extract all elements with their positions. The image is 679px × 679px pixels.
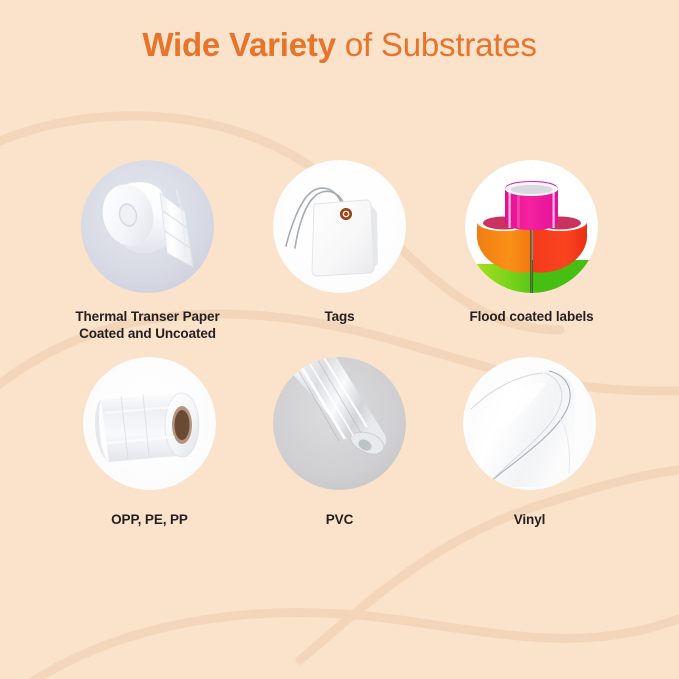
substrate-row-2: OPP, PE, PP bbox=[0, 351, 679, 529]
substrate-card-pvc[interactable]: PVC bbox=[245, 351, 435, 529]
thermal-label-roll-circle bbox=[81, 160, 214, 293]
substrate-caption-tags: Tags bbox=[324, 309, 354, 326]
substrate-grid: Thermal Transer Paper Coated and Uncoate… bbox=[0, 160, 679, 529]
fluorescent-label-rolls-image bbox=[465, 160, 598, 293]
thermal-label-roll-image bbox=[81, 160, 214, 293]
page-title: Wide Variety of Substrates bbox=[0, 26, 679, 64]
fluorescent-label-rolls-circle bbox=[465, 160, 598, 293]
substrate-card-thermal-transfer-paper[interactable]: Thermal Transer Paper Coated and Uncoate… bbox=[53, 160, 243, 343]
page-title-light: of Substrates bbox=[336, 26, 537, 63]
clear-pvc-film-circle bbox=[273, 357, 406, 490]
substrate-caption-flood-coated-labels: Flood coated labels bbox=[469, 309, 593, 326]
page-title-strong: Wide Variety bbox=[142, 26, 336, 63]
substrate-card-opp-pe-pp[interactable]: OPP, PE, PP bbox=[55, 351, 245, 529]
plastic-film-roll-image bbox=[83, 357, 216, 490]
substrate-card-tags[interactable]: Tags bbox=[245, 160, 435, 326]
clear-pvc-film-image bbox=[273, 357, 406, 490]
clear-vinyl-film-circle bbox=[463, 357, 596, 490]
substrate-card-flood-coated-labels[interactable]: Flood coated labels bbox=[437, 160, 627, 326]
substrate-caption-pvc: PVC bbox=[326, 512, 353, 529]
hang-tag-image bbox=[273, 160, 406, 293]
clear-vinyl-film-image bbox=[463, 357, 596, 490]
substrate-caption-thermal-transfer-paper: Thermal Transer Paper Coated and Uncoate… bbox=[75, 309, 219, 343]
plastic-film-roll-circle bbox=[83, 357, 216, 490]
substrate-row-1: Thermal Transer Paper Coated and Uncoate… bbox=[0, 160, 679, 343]
hang-tag-circle bbox=[273, 160, 406, 293]
substrate-caption-opp-pe-pp: OPP, PE, PP bbox=[111, 512, 188, 529]
substrate-card-vinyl[interactable]: Vinyl bbox=[435, 351, 625, 529]
substrate-caption-vinyl: Vinyl bbox=[514, 512, 546, 529]
